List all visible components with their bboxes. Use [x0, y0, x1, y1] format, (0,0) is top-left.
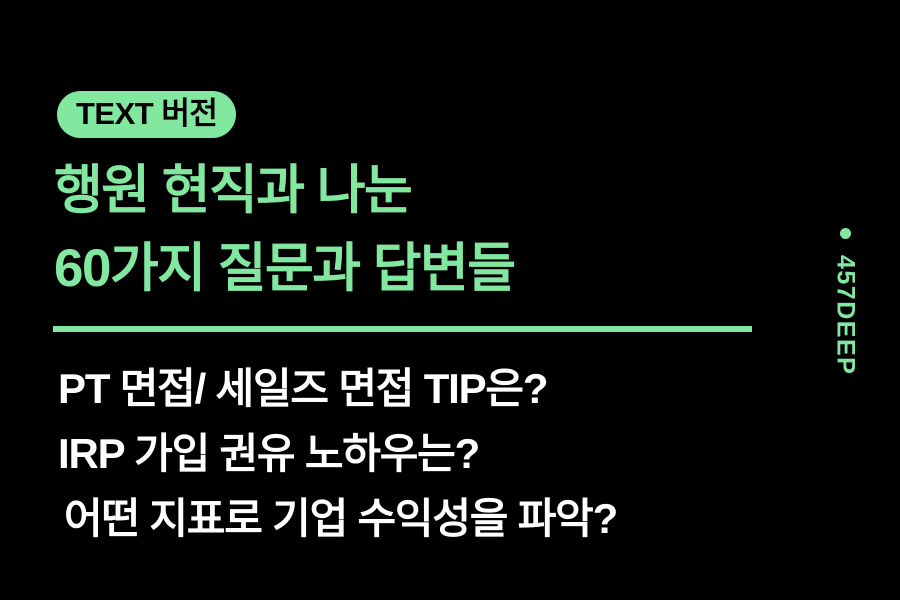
brand-name: 457DEEP [833, 255, 858, 375]
question-list: PT 면접/ 세일즈 면접 TIP은? IRP 가입 권유 노하우는? 어떤 지… [58, 356, 617, 551]
badge-row: TEXT 버전 [57, 91, 236, 138]
text-version-badge: TEXT 버전 [57, 91, 236, 138]
question-line-1: PT 면접/ 세일즈 면접 TIP은? [58, 356, 617, 421]
poster-canvas: TEXT 버전 행원 현직과 나눈 60가지 질문과 답변들 PT 면접/ 세일… [0, 0, 900, 600]
question-line-3: 어떤 지표로 기업 수익성을 파악? [58, 486, 617, 551]
dot-icon [840, 228, 851, 239]
divider-rule [53, 326, 752, 332]
headline: 행원 현직과 나눈 60가지 질문과 답변들 [54, 152, 514, 309]
headline-line-1: 행원 현직과 나눈 [54, 152, 514, 230]
headline-line-2: 60가지 질문과 답변들 [54, 230, 514, 308]
question-line-2: IRP 가입 권유 노하우는? [58, 421, 617, 486]
brand-mark: 457DEEP [824, 228, 866, 375]
